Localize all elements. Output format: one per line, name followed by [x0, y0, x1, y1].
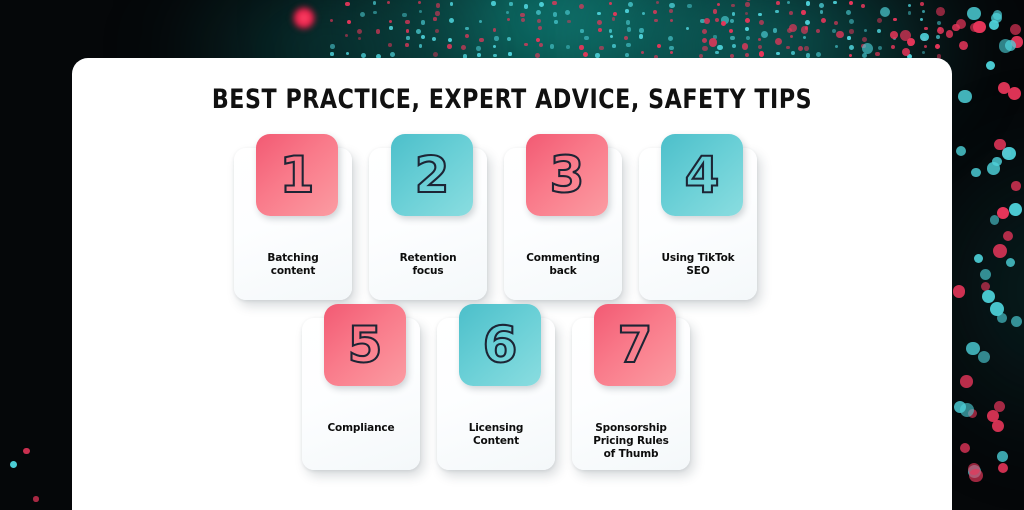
tip-card-number-chip: 4: [661, 134, 743, 216]
tip-card[interactable]: Using TikTok SEO4: [639, 134, 757, 300]
red-glow-dot: [290, 4, 318, 32]
tip-card-number: 6: [483, 320, 518, 370]
tip-card-number-chip: 5: [324, 304, 406, 386]
tip-card-label: Using TikTok SEO: [643, 252, 753, 278]
tip-card-number-chip: 2: [391, 134, 473, 216]
tip-card-label: Licensing Content: [441, 422, 551, 448]
tip-card-label: Sponsorship Pricing Rules of Thumb: [576, 422, 686, 461]
tip-card-number-chip: 3: [526, 134, 608, 216]
tip-card-number: 3: [550, 150, 585, 200]
tip-card-number: 4: [685, 150, 720, 200]
tip-card[interactable]: Commenting back3: [504, 134, 622, 300]
tip-card[interactable]: Licensing Content6: [437, 304, 555, 470]
tip-card-number: 7: [618, 320, 653, 370]
tip-card[interactable]: Retention focus2: [369, 134, 487, 300]
tip-card[interactable]: Batching content1: [234, 134, 352, 300]
content-panel: BEST PRACTICE, EXPERT ADVICE, SAFETY TIP…: [72, 58, 952, 510]
tip-card-number: 1: [280, 150, 315, 200]
tip-card-label: Retention focus: [373, 252, 483, 278]
tip-card-label: Commenting back: [508, 252, 618, 278]
tip-card[interactable]: Compliance5: [302, 304, 420, 470]
page-title: BEST PRACTICE, EXPERT ADVICE, SAFETY TIP…: [103, 84, 921, 115]
tip-card-number-chip: 1: [256, 134, 338, 216]
tip-card-number-chip: 6: [459, 304, 541, 386]
tip-card-number: 2: [415, 150, 450, 200]
tip-card-label: Compliance: [306, 422, 416, 435]
tip-card-number: 5: [348, 320, 383, 370]
tip-card[interactable]: Sponsorship Pricing Rules of Thumb7: [572, 304, 690, 470]
tip-card-number-chip: 7: [594, 304, 676, 386]
tip-card-label: Batching content: [238, 252, 348, 278]
dot-mesh: [330, 0, 950, 66]
